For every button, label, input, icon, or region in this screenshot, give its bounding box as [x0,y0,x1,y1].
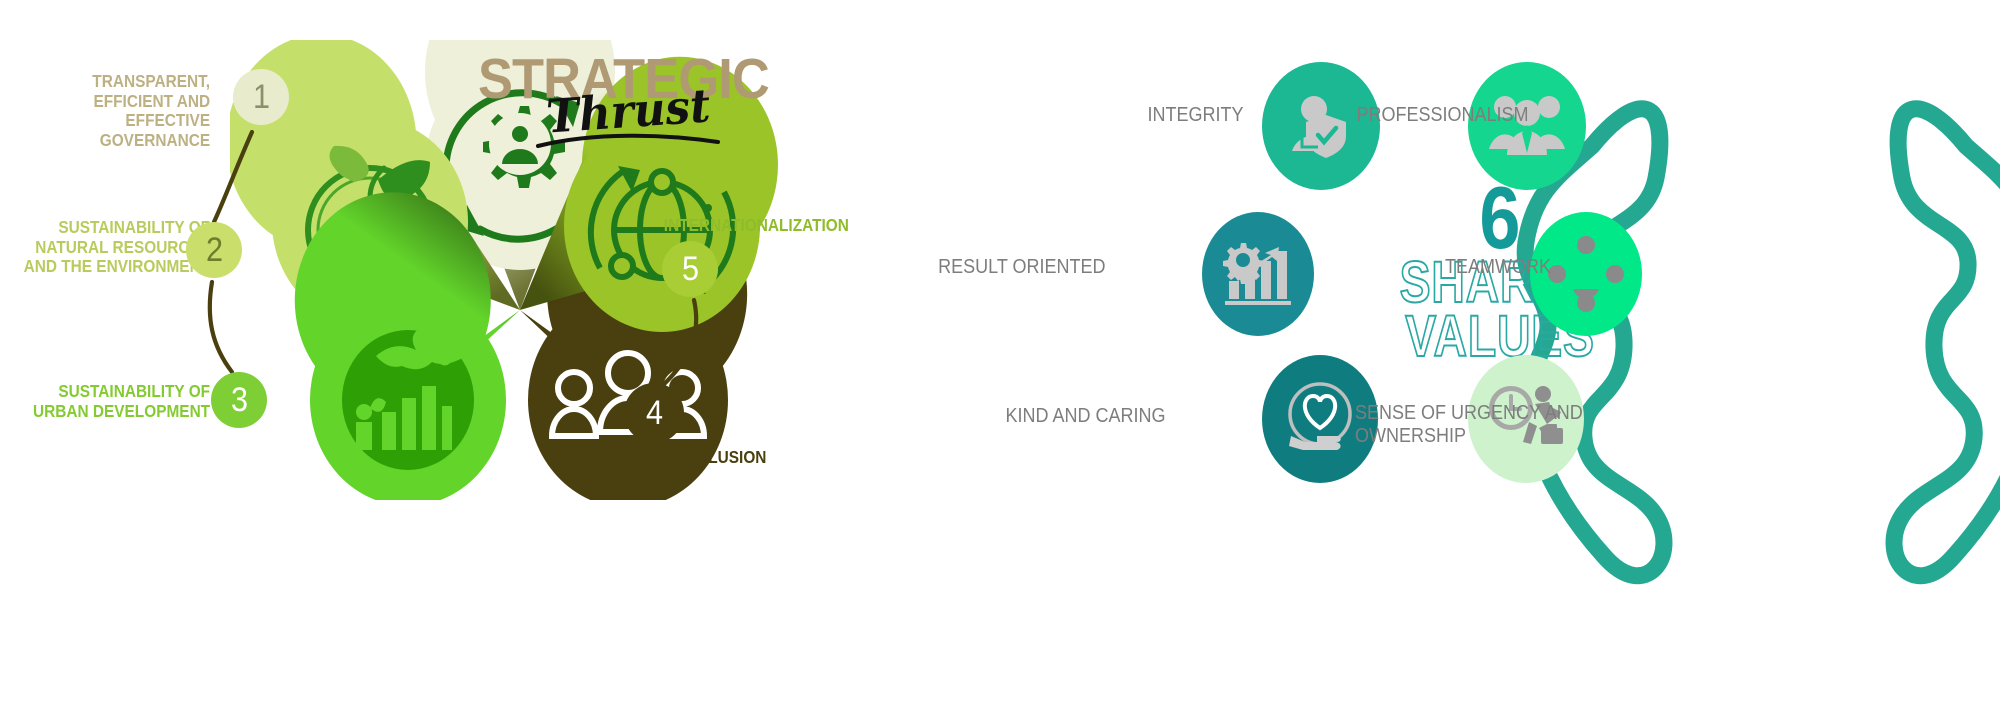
badge-1-number: 1 [252,80,269,114]
strategic-thrust-panel: STRATEGIC Thrust TRANSPARENT, EFFICIENT … [0,0,1000,706]
thrust-badge-1[interactable]: 1 [233,69,289,125]
thrust-badge-4[interactable]: 4 [624,383,684,443]
shared-values-panel: 6 SHARED VALUES [1000,0,2000,706]
thrust-badge-3[interactable]: 3 [211,372,267,428]
value-circle-result-oriented[interactable] [1202,212,1314,336]
value-label-kind-and-caring: KIND AND CARING [905,405,1166,428]
thrust-label-1: TRANSPARENT, EFFICIENT AND EFFECTIVE GOV… [21,72,210,150]
connector-5-4 [660,300,696,388]
thrust-label-4: SOCIAL INCLUSION [592,448,794,468]
value-label-professionalism: PROFESSIONALISM [1357,104,1654,127]
growth-chart-gear-icon [1221,239,1295,309]
value-label-integrity: INTEGRITY [983,104,1244,127]
value-label-sense-of-urgency: SENSE OF URGENCY AND OWNERSHIP [1355,402,1625,448]
hand-heart-icon [1281,380,1359,458]
badge-3-number: 3 [230,383,247,417]
thrust-badge-2[interactable]: 2 [186,222,242,278]
thrust-label-3: SUSTAINABILITY OF URBAN DEVELOPMENT [21,382,210,421]
badge-5-number: 5 [681,252,698,286]
connector-2-3 [210,282,232,372]
badge-2-number: 2 [205,233,222,267]
thrust-label-5: INTERNATIONALIZATION [664,216,866,236]
shared-values-count: 6 [1080,178,1920,259]
strategic-thrust-title: STRATEGIC Thrust [478,46,798,156]
value-label-result-oriented: RESULT ORIENTED [845,256,1106,279]
badge-4-number: 4 [645,396,662,430]
thrust-badge-5[interactable]: 5 [662,241,718,297]
value-label-teamwork: TEAMWORK [1445,256,1715,279]
infographic-canvas: STRATEGIC Thrust TRANSPARENT, EFFICIENT … [0,0,2000,706]
person-shield-check-icon [1284,89,1358,163]
connector-1-2 [214,132,252,222]
thrust-label-2: SUSTAINABILITY OF NATURAL RESOURCES AND … [21,218,210,277]
title-script-underline [534,130,724,154]
